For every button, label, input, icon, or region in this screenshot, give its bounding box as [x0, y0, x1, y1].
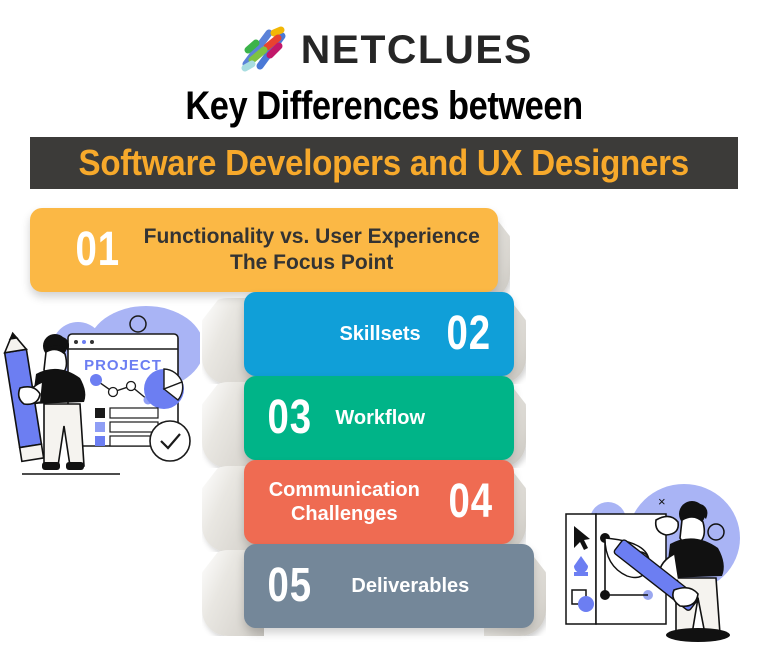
row-label-04-line1: Communication: [260, 478, 429, 502]
row-number-02: 02: [446, 310, 490, 358]
row-label-05: Deliverables: [351, 574, 469, 598]
row-number-01: 01: [76, 226, 120, 274]
comparison-list: 01 Functionality vs. User Experience The…: [0, 0, 768, 643]
list-item[interactable]: 05 Deliverables: [196, 544, 560, 628]
row-bar-05[interactable]: 05 Deliverables: [244, 544, 534, 628]
row-number-05: 05: [268, 562, 312, 610]
row-bar-03[interactable]: 03 Workflow: [244, 376, 514, 460]
row-number-04: 04: [448, 478, 492, 526]
row-label-03: Workflow: [335, 406, 425, 430]
row-label-01-line1: Functionality vs. User Experience: [143, 224, 480, 250]
row-bar-04[interactable]: Communication Challenges 04: [244, 460, 514, 544]
list-item[interactable]: Communication Challenges 04: [196, 460, 560, 544]
list-item[interactable]: Skillsets 02: [196, 292, 560, 376]
list-item[interactable]: 01 Functionality vs. User Experience The…: [30, 208, 560, 292]
row-number-03: 03: [268, 394, 312, 442]
row-label-02: Skillsets: [339, 322, 420, 346]
row-label-04-line2: Challenges: [260, 502, 429, 526]
row-label-01-line2: The Focus Point: [143, 250, 480, 276]
infographic-canvas: NETCLUES Key Differences between Softwar…: [0, 0, 768, 643]
row-bar-01[interactable]: 01 Functionality vs. User Experience The…: [30, 208, 498, 292]
list-item[interactable]: 03 Workflow: [196, 376, 560, 460]
row-bar-02[interactable]: Skillsets 02: [244, 292, 514, 376]
